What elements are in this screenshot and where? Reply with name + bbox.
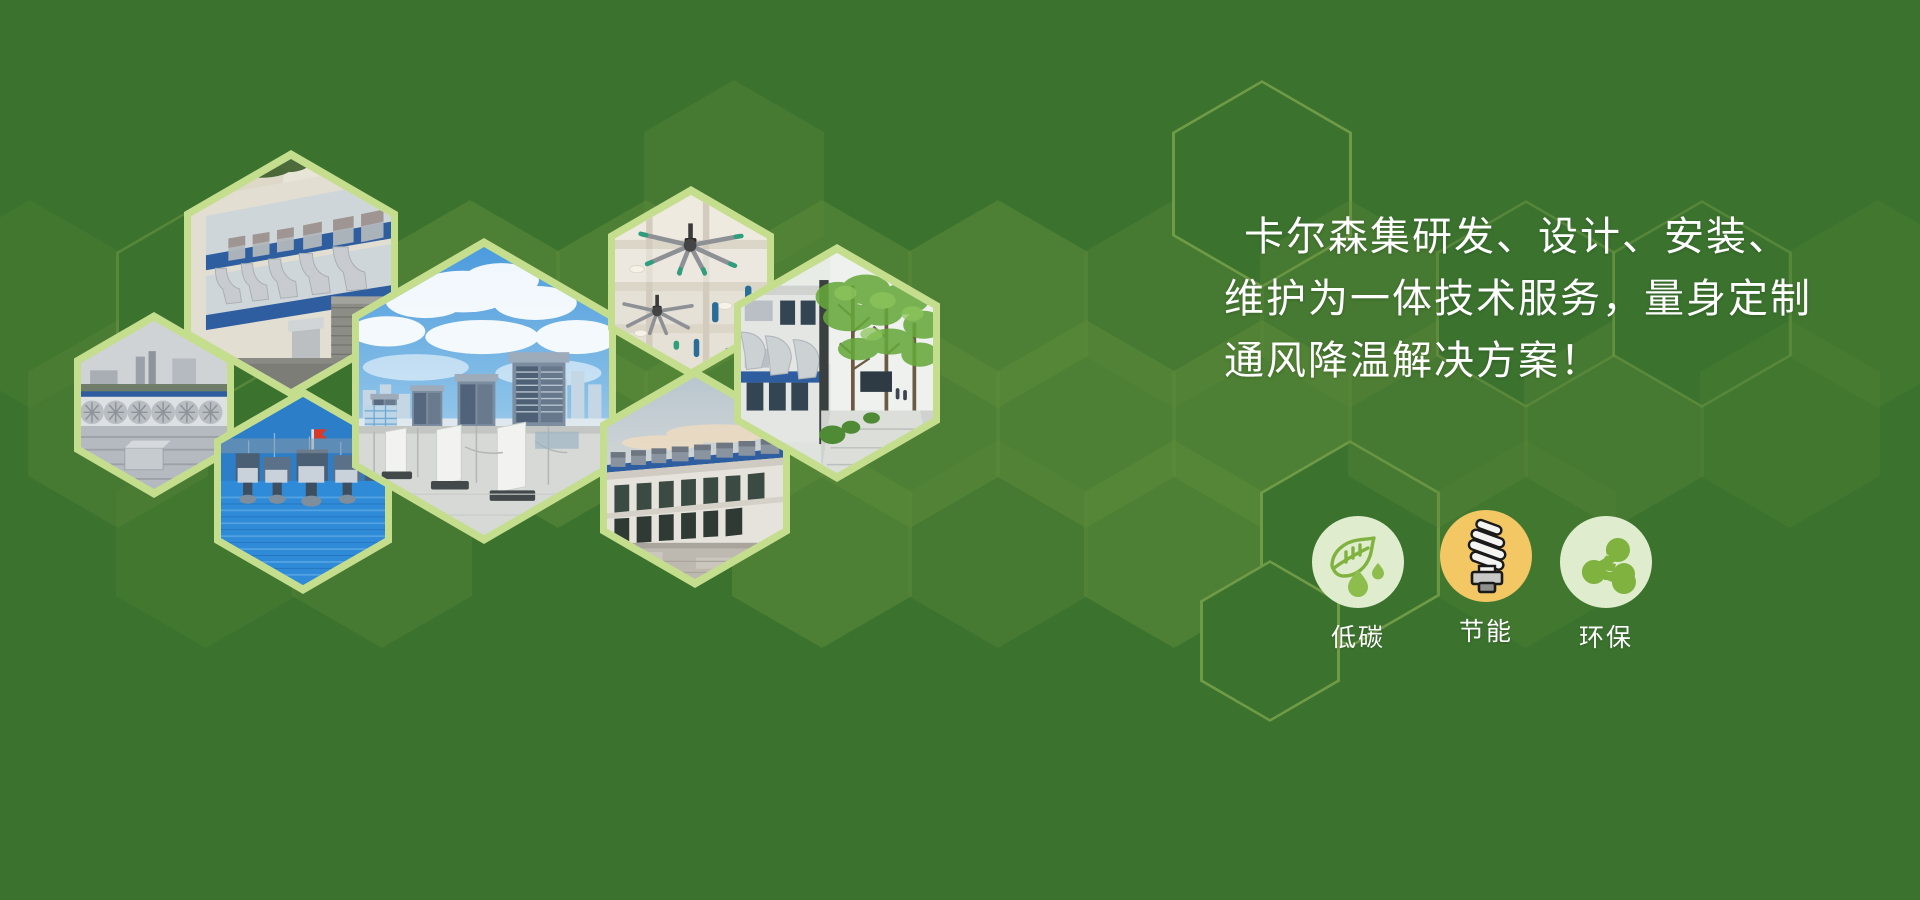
leaf-droplet-icon — [1312, 516, 1404, 608]
light-bulb-icon — [1440, 510, 1532, 602]
molecule-recycle-icon — [1560, 516, 1652, 608]
feature-low-carbon[interactable]: 低碳 — [1310, 516, 1406, 654]
banner-canvas: 卡尔森集研发、设计、安装、 维护为一体技术服务，量身定制 通风降温解决方案！ 低… — [0, 0, 1920, 900]
photo-street-side-ducts — [741, 253, 933, 473]
feature-environment[interactable]: 环保 — [1558, 516, 1654, 654]
headline-block: 卡尔森集研发、设计、安装、 维护为一体技术服务，量身定制 通风降温解决方案！ — [1224, 206, 1914, 392]
feature-label: 节能 — [1438, 612, 1534, 648]
headline-line-1: 卡尔森集研发、设计、安装、 — [1224, 206, 1914, 268]
feature-energy-saving[interactable]: 节能 — [1438, 510, 1534, 648]
feature-badges: 低碳 节能 — [1310, 516, 1730, 646]
headline-line-2: 维护为一体技术服务，量身定制 — [1224, 268, 1914, 330]
feature-label: 低碳 — [1310, 618, 1406, 654]
feature-label: 环保 — [1558, 618, 1654, 654]
photo-rooftop-cooler-array — [359, 247, 609, 535]
headline-line-3: 通风降温解决方案！ — [1224, 330, 1914, 392]
